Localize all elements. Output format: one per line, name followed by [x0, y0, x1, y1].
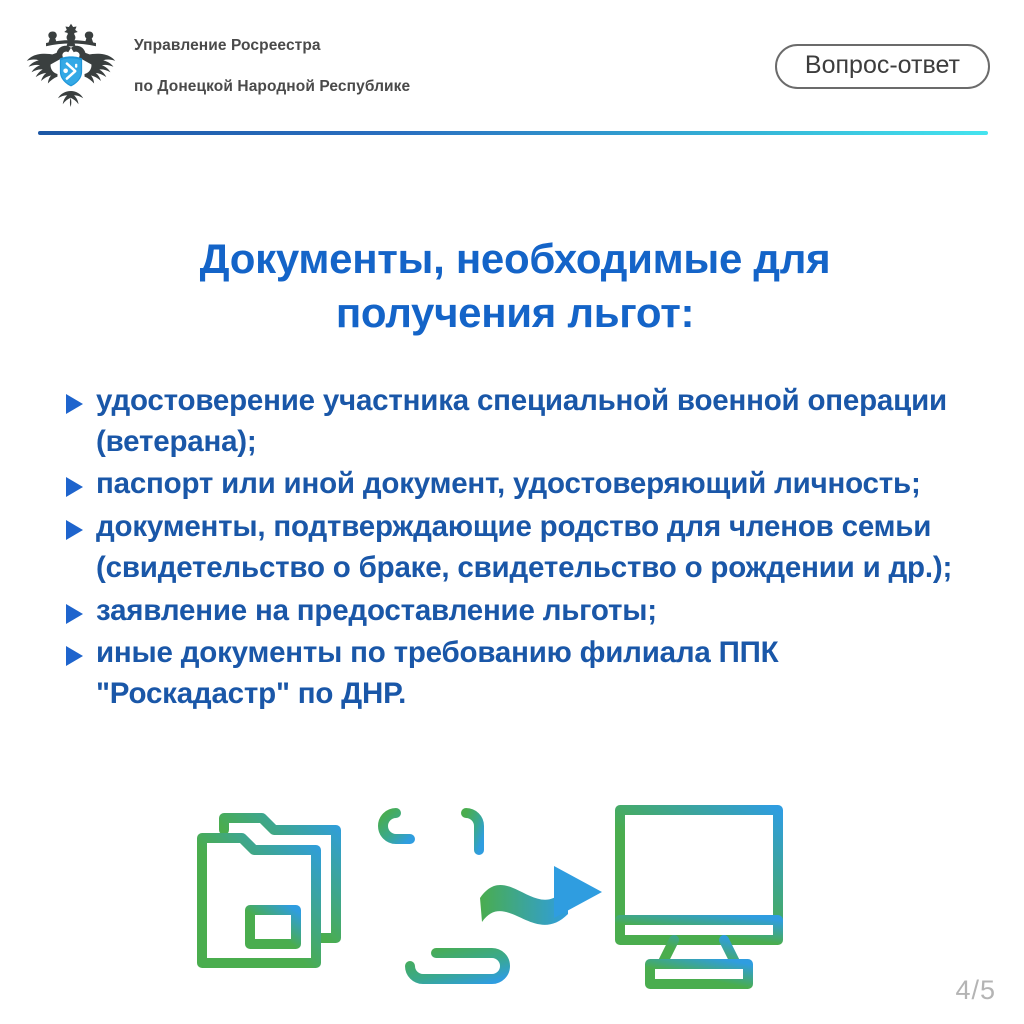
list-item: удостоверение участника специальной воен… — [62, 381, 962, 462]
list-item-label: документы, подтверждающие родство для чл… — [96, 507, 962, 588]
list-item-label: заявление на предоставление льготы; — [96, 591, 962, 632]
list-item: иные документы по требованию филиала ППК… — [62, 633, 962, 714]
question-answer-badge: Вопрос-ответ — [775, 44, 990, 89]
list-item: заявление на предоставление льготы; — [62, 591, 962, 632]
organization-name-line2: по Донецкой Народной Республике — [134, 77, 410, 97]
triangle-right-icon — [62, 591, 96, 626]
list-item-label: паспорт или иной документ, удостоверяющи… — [96, 464, 962, 505]
documents-illustration — [150, 788, 890, 998]
folder-documents-icon — [202, 818, 336, 963]
list-item-label: удостоверение участника специальной воен… — [96, 381, 962, 462]
organization-name: Управление Росреестра по Донецкой Народн… — [134, 14, 410, 118]
slide-header: Управление Росреестра по Донецкой Народн… — [0, 0, 1024, 128]
arrow-right-icon — [480, 866, 602, 925]
triangle-right-icon — [62, 507, 96, 542]
triangle-right-icon — [62, 633, 96, 668]
list-item: паспорт или иной документ, удостоверяющи… — [62, 464, 962, 505]
triangle-right-icon — [62, 464, 96, 499]
computer-monitor-icon — [620, 810, 778, 984]
list-item-label: иные документы по требованию филиала ППК… — [96, 633, 962, 714]
slide-title: Документы, необходимые для получения льг… — [110, 232, 920, 340]
organization-name-line1: Управление Росреестра — [134, 36, 410, 56]
page-indicator: 4/5 — [955, 975, 996, 1006]
documents-list: удостоверение участника специальной воен… — [62, 381, 962, 717]
list-item: документы, подтверждающие родство для чл… — [62, 507, 962, 588]
double-headed-eagle-emblem-icon — [22, 18, 120, 114]
header-divider — [38, 131, 988, 135]
triangle-right-icon — [62, 381, 96, 416]
slide-root: Управление Росреестра по Донецкой Народн… — [0, 0, 1024, 1024]
brand-block: Управление Росреестра по Донецкой Народн… — [22, 14, 410, 118]
